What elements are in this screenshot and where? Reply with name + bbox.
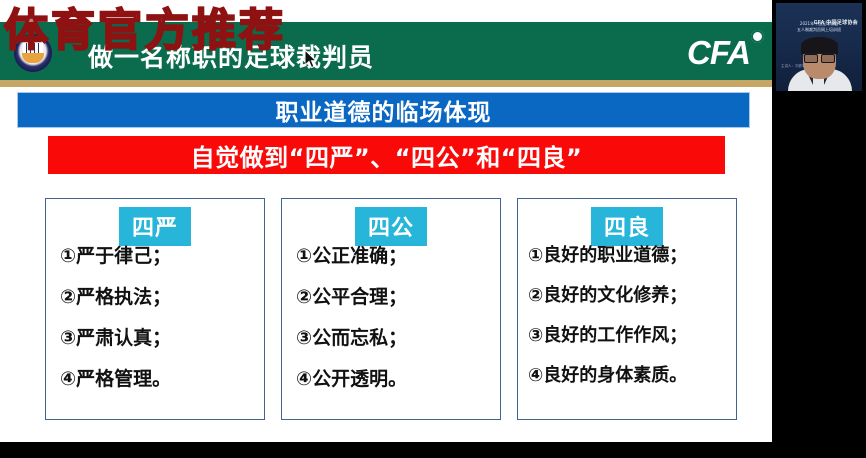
list-item: ②严格执法； [54, 288, 256, 307]
content-column-sigong: 四公 ①公正准确； ②公平合理； ③公而忘私； ④公开透明。 [281, 198, 501, 420]
column-item-list: ①良好的职业道德； ②良好的文化修养； ③良好的工作作风； ④良好的身体素质。 [518, 247, 736, 407]
presenter-hair-shape [801, 37, 838, 54]
list-item: ①公正准确； [290, 247, 492, 266]
column-item-list: ①公正准确； ②公平合理； ③公而忘私； ④公开透明。 [282, 247, 500, 411]
presenter-video-thumbnail[interactable]: 2021年中国足球协会 五人制裁判员网上培训班 CFA 中国足球协会 主讲人：刘… [776, 3, 862, 91]
list-item: ③良好的工作作风； [526, 327, 728, 345]
list-item: ④严格管理。 [54, 370, 256, 389]
video-overlay-brand: CFA 中国足球协会 [814, 19, 858, 26]
page-title: 做一名称职的足球裁判员 [88, 38, 374, 74]
content-columns: 四严 ①严于律己； ②严格执法； ③严肃认真； ④严格管理。 四公 ①公正准确；… [45, 198, 737, 420]
list-item: ②良好的文化修养； [526, 287, 728, 305]
list-item: ③严肃认真； [54, 329, 256, 348]
column-item-list: ①严于律己； ②严格执法； ③严肃认真； ④严格管理。 [46, 247, 264, 411]
list-item: ④良好的身体素质。 [526, 367, 728, 385]
cfa-crest-icon [14, 34, 52, 72]
section-banner-primary-text: 职业道德的临场体现 [276, 93, 492, 127]
slide-canvas: 做一名称职的足球裁判员 CFA 职业道德的临场体现 自觉做到“四严”、“四公”和… [0, 0, 772, 442]
section-banner-primary: 职业道德的临场体现 [17, 92, 750, 128]
cfa-wordmark: CFA [687, 36, 750, 69]
list-item: ①良好的职业道德； [526, 247, 728, 265]
video-corner-label: 主讲人：刘铁军 [781, 64, 806, 69]
registered-circle-icon [751, 30, 764, 43]
slide-header-accent-strip [0, 80, 772, 87]
content-column-siliang: 四良 ①良好的职业道德； ②良好的文化修养； ③良好的工作作风； ④良好的身体素… [517, 198, 737, 420]
section-banner-secondary: 自觉做到“四严”、“四公”和“四良” [48, 136, 725, 174]
section-banner-secondary-text: 自觉做到“四严”、“四公”和“四良” [191, 138, 583, 173]
list-item: ③公而忘私； [290, 329, 492, 348]
glasses-icon [804, 53, 835, 62]
list-item: ②公平合理； [290, 288, 492, 307]
column-badge: 四严 [119, 207, 191, 246]
crest-ball-shape [22, 53, 44, 63]
list-item: ①严于律己； [54, 247, 256, 266]
column-badge: 四良 [591, 207, 663, 246]
content-column-siyan: 四严 ①严于律己； ②严格执法； ③严肃认真； ④严格管理。 [45, 198, 265, 420]
column-badge: 四公 [355, 207, 427, 246]
list-item: ④公开透明。 [290, 370, 492, 389]
presentation-screen: 做一名称职的足球裁判员 CFA 职业道德的临场体现 自觉做到“四严”、“四公”和… [0, 0, 866, 458]
